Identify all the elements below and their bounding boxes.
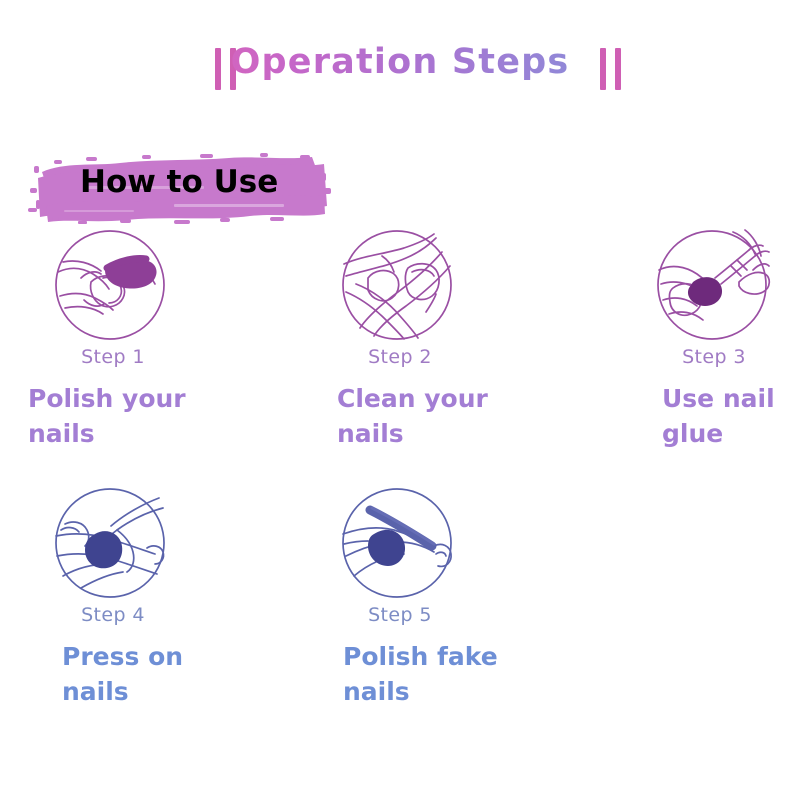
- step-item-5[interactable]: Step 5 Polish fake nails: [305, 484, 565, 709]
- step-caption: Polish your nails: [28, 382, 203, 451]
- file-fake-nail-icon: [338, 484, 456, 602]
- step-caption: Polish fake nails: [343, 640, 518, 709]
- step-caption: Press on nails: [62, 640, 237, 709]
- step-item-2[interactable]: Step 2 Clean your nails: [305, 226, 565, 451]
- how-to-use-banner: How to Use: [24, 148, 334, 224]
- step-caption: Use nail glue: [662, 382, 800, 451]
- title-decoration-right: [600, 48, 621, 90]
- step-item-4[interactable]: Step 4 Press on nails: [18, 484, 278, 709]
- press-fake-nail-icon: [51, 484, 169, 602]
- glue-brush-on-nail-icon: [653, 226, 771, 344]
- decoration-bar: [615, 48, 621, 90]
- steps-row: Step 1 Polish your nails: [0, 226, 800, 484]
- fake-nail-shape: [85, 531, 122, 568]
- page-title: Operation Steps: [0, 34, 800, 90]
- step-label: Step 3: [615, 346, 800, 368]
- fake-nail-shape: [368, 530, 405, 566]
- steps-grid: Step 1 Polish your nails: [0, 226, 800, 742]
- step-label: Step 4: [18, 604, 208, 626]
- step-label: Step 1: [18, 346, 208, 368]
- nail-file-shape: [105, 258, 157, 288]
- step-label: Step 5: [305, 604, 495, 626]
- glue-blob-shape: [688, 277, 722, 306]
- header: Operation Steps: [0, 34, 800, 96]
- decoration-bar: [600, 48, 606, 90]
- step-label: Step 2: [305, 346, 495, 368]
- step-item-3[interactable]: Step 3 Use nail glue: [615, 226, 800, 451]
- step-item-1[interactable]: Step 1 Polish your nails: [18, 226, 278, 451]
- steps-row: Step 4 Press on nails: [0, 484, 800, 742]
- banner-label: How to Use: [80, 164, 278, 200]
- finger-with-nail-file-icon: [51, 226, 169, 344]
- step-caption: Clean your nails: [337, 382, 512, 451]
- hand-with-wipe-cloth-icon: [338, 226, 456, 344]
